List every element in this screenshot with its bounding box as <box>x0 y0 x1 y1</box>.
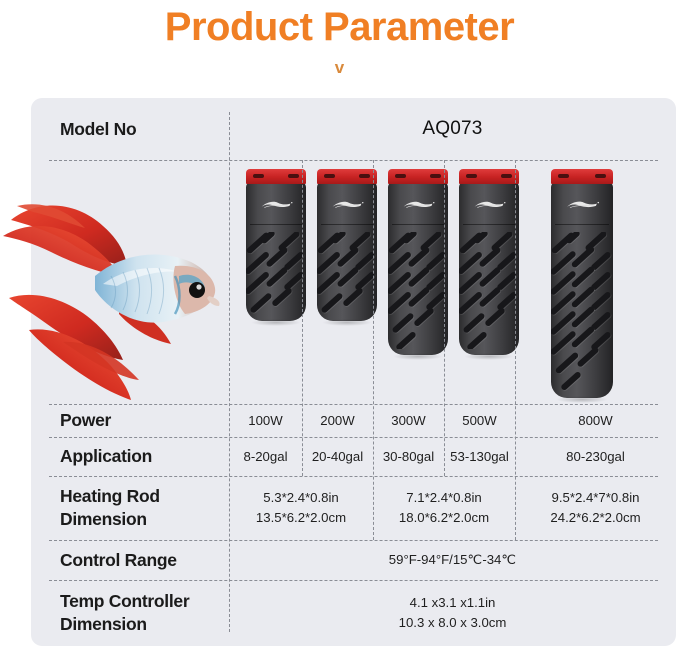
row-value-power-500w: 500W <box>444 404 515 437</box>
row-label-line2: Dimension <box>60 613 189 636</box>
row-value-heating-rod-group-1: 5.3*2.4*0.8in 13.5*6.2*2.0cm <box>229 476 373 540</box>
heater-vents <box>246 232 306 315</box>
row-label-application: Application <box>60 437 152 476</box>
dimension-cm: 13.5*6.2*2.0cm <box>256 508 346 528</box>
table-row-heating-rod-dimension: Heating Rod Dimension 5.3*2.4*0.8in 13.5… <box>31 476 676 540</box>
table-row-application: Application 8-20gal 20-40gal 30-80gal 53… <box>31 437 676 476</box>
row-label-power: Power <box>60 404 111 437</box>
table-row-model-no: Model No AQ073 <box>31 98 676 160</box>
heater-body <box>317 182 377 321</box>
betta-fish-image <box>0 180 229 408</box>
heater-shadow <box>251 319 301 326</box>
heater-cap <box>317 169 377 184</box>
dimension-inches: 5.3*2.4*0.8in <box>263 488 339 508</box>
table-row-temp-controller-dimension: Temp Controller Dimension 4.1 x3.1 x1.1i… <box>31 580 676 646</box>
row-label-line1: Heating Rod <box>60 485 160 508</box>
divider-vertical-c3 <box>444 160 445 476</box>
page-title: Product Parameter <box>0 0 679 52</box>
heater-image-500w <box>459 169 519 355</box>
row-value-application-100w: 8-20gal <box>229 437 302 476</box>
divider-vertical-c4 <box>515 160 516 540</box>
chevron-down-icon: v <box>0 58 679 78</box>
brand-logo-icon <box>258 196 294 213</box>
row-value-heating-rod-group-2: 7.1*2.4*0.8in 18.0*6.2*2.0cm <box>373 476 515 540</box>
heater-body <box>246 182 306 321</box>
row-label-heating-rod-dimension: Heating Rod Dimension <box>60 476 160 540</box>
row-label-control-range: Control Range <box>60 540 177 580</box>
table-row-control-range: Control Range 59°F-94°F/15℃-34℃ <box>31 540 676 580</box>
dimension-cm: 18.0*6.2*2.0cm <box>399 508 489 528</box>
heater-shadow <box>393 353 443 360</box>
dimension-inches: 4.1 x3.1 x1.1in <box>410 593 496 613</box>
heater-seam <box>250 224 303 225</box>
row-value-power-100w: 100W <box>229 404 302 437</box>
heater-image-200w <box>317 169 377 321</box>
heater-body <box>551 182 613 398</box>
heater-image-100w <box>246 169 306 321</box>
heater-cap <box>246 169 306 184</box>
heater-seam <box>321 224 374 225</box>
heater-body <box>459 182 519 355</box>
brand-logo-icon <box>471 196 507 213</box>
row-value-power-800w: 800W <box>515 404 676 437</box>
heater-seam <box>463 224 516 225</box>
heater-image-300w <box>388 169 448 355</box>
brand-logo-icon <box>563 196 600 213</box>
row-label-model-no: Model No <box>60 98 136 160</box>
row-value-model-no: AQ073 <box>229 98 676 160</box>
dimension-inches: 9.5*2.4*7*0.8in <box>552 488 640 508</box>
row-value-application-500w: 53-130gal <box>444 437 515 476</box>
heater-body <box>388 182 448 355</box>
brand-logo-icon <box>400 196 436 213</box>
dimension-cm: 10.3 x 8.0 x 3.0cm <box>399 613 507 633</box>
table-row-products <box>31 160 676 404</box>
row-value-temp-controller-dimension: 4.1 x3.1 x1.1in 10.3 x 8.0 x 3.0cm <box>229 580 676 646</box>
heater-shadow <box>322 319 372 326</box>
heater-shadow <box>556 396 608 403</box>
dimension-inches: 7.1*2.4*0.8in <box>406 488 482 508</box>
divider-vertical-c1 <box>302 160 303 476</box>
row-value-control-range: 59°F-94°F/15℃-34℃ <box>229 540 676 580</box>
heater-cap <box>388 169 448 184</box>
heater-cap <box>459 169 519 184</box>
heater-vents <box>388 232 448 349</box>
row-label-line2: Dimension <box>60 508 160 531</box>
row-value-heating-rod-group-3: 9.5*2.4*7*0.8in 24.2*6.2*2.0cm <box>515 476 676 540</box>
brand-logo-icon <box>329 196 365 213</box>
row-value-application-200w: 20-40gal <box>302 437 373 476</box>
row-value-power-300w: 300W <box>373 404 444 437</box>
row-value-power-200w: 200W <box>302 404 373 437</box>
row-label-line1: Temp Controller <box>60 590 189 613</box>
heater-vents <box>317 232 377 315</box>
row-value-application-800w: 80-230gal <box>515 437 676 476</box>
heater-seam <box>555 224 610 225</box>
header: Product Parameter v <box>0 0 679 78</box>
heater-vents <box>551 232 613 392</box>
heater-shadow <box>464 353 514 360</box>
row-label-temp-controller-dimension: Temp Controller Dimension <box>60 580 189 646</box>
heater-image-800w <box>551 169 613 398</box>
heater-cap <box>551 169 613 184</box>
dimension-cm: 24.2*6.2*2.0cm <box>550 508 640 528</box>
heater-seam <box>392 224 445 225</box>
divider-vertical-main <box>229 112 230 632</box>
product-parameter-page: Product Parameter v Model No AQ073 <box>0 0 679 656</box>
row-value-application-300w: 30-80gal <box>373 437 444 476</box>
divider-vertical-c2 <box>373 160 374 540</box>
table-row-power: Power 100W 200W 300W 500W 800W <box>31 404 676 437</box>
heater-vents <box>459 232 519 349</box>
parameter-table: Model No AQ073 <box>31 98 676 646</box>
